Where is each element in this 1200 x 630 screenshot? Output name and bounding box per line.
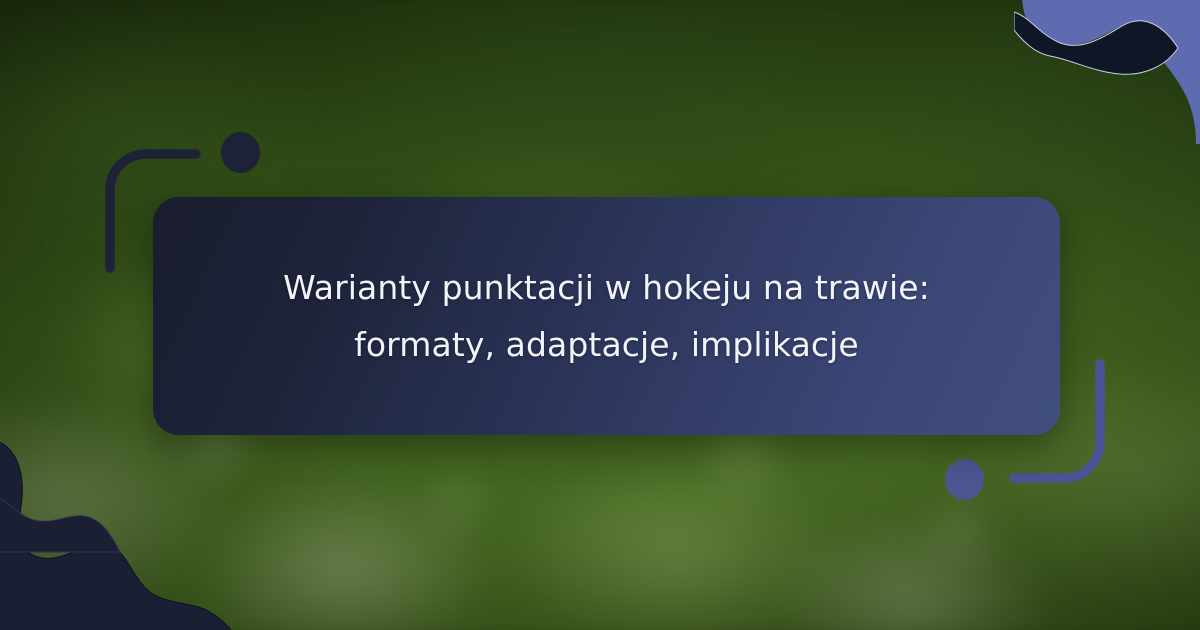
og-image-canvas: Warianty punktacji w hokeju na trawie: f… <box>0 0 1200 630</box>
accent-dot-top-left <box>221 132 260 173</box>
title-card: Warianty punktacji w hokeju na trawie: f… <box>153 197 1060 435</box>
accent-dot-bottom-right <box>945 459 984 500</box>
blob-top-right-icon <box>1014 0 1200 144</box>
page-title-line-2: formaty, adaptacje, implikacje <box>354 325 859 364</box>
blob-bottom-left-icon <box>0 434 234 630</box>
page-title: Warianty punktacji w hokeju na trawie: f… <box>219 259 994 373</box>
page-title-line-1: Warianty punktacji w hokeju na trawie: <box>283 268 930 307</box>
